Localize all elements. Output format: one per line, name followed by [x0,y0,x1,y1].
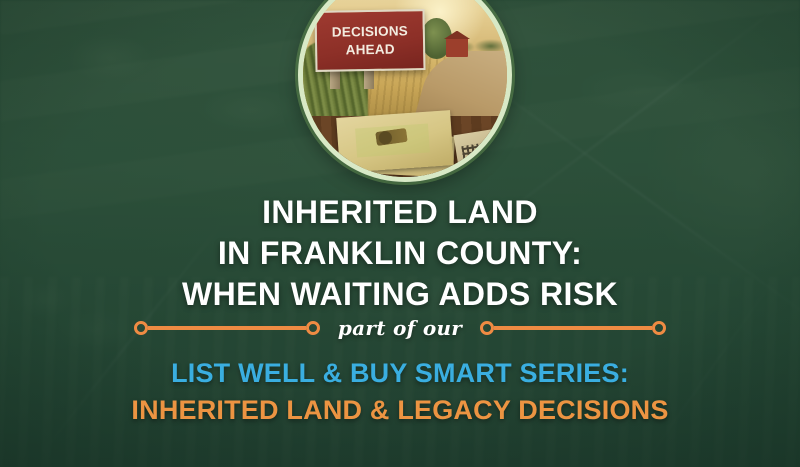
sign-text-line-2: AHEAD [346,42,395,56]
headline-line-2: IN FRANKLIN COUNTY: [0,233,800,274]
headline-line-3: WHEN WAITING ADDS RISK [0,274,800,315]
divider-line [494,326,652,330]
calculator-icon [454,129,500,170]
divider-right-segment [480,321,666,335]
series-block: LIST WELL & BUY SMART SERIES: INHERITED … [0,357,800,427]
sign-text-line-1: DECISIONS [332,24,408,39]
barn-icon [446,38,468,56]
decisions-ahead-sign: DECISIONS AHEAD [315,9,426,72]
divider: part of our [0,313,800,343]
page-title: INHERITED LAND IN FRANKLIN COUNTY: WHEN … [0,192,800,315]
divider-dot-icon [134,321,148,335]
series-subtitle: INHERITED LAND & LEGACY DECISIONS [0,394,800,427]
banner-canvas: DECISIONS AHEAD INHERITED LAND IN FRANKL… [0,0,800,467]
divider-dot-icon [652,321,666,335]
divider-left-segment [134,321,320,335]
divider-dot-icon [480,321,494,335]
circular-badge-image: DECISIONS AHEAD [298,0,512,182]
divider-dot-icon [306,321,320,335]
divider-line [148,326,306,330]
divider-script-text: part of our [320,316,480,340]
series-name: LIST WELL & BUY SMART SERIES: [0,357,800,390]
badge-artwork: DECISIONS AHEAD [303,0,507,177]
headline-line-1: INHERITED LAND [0,192,800,233]
